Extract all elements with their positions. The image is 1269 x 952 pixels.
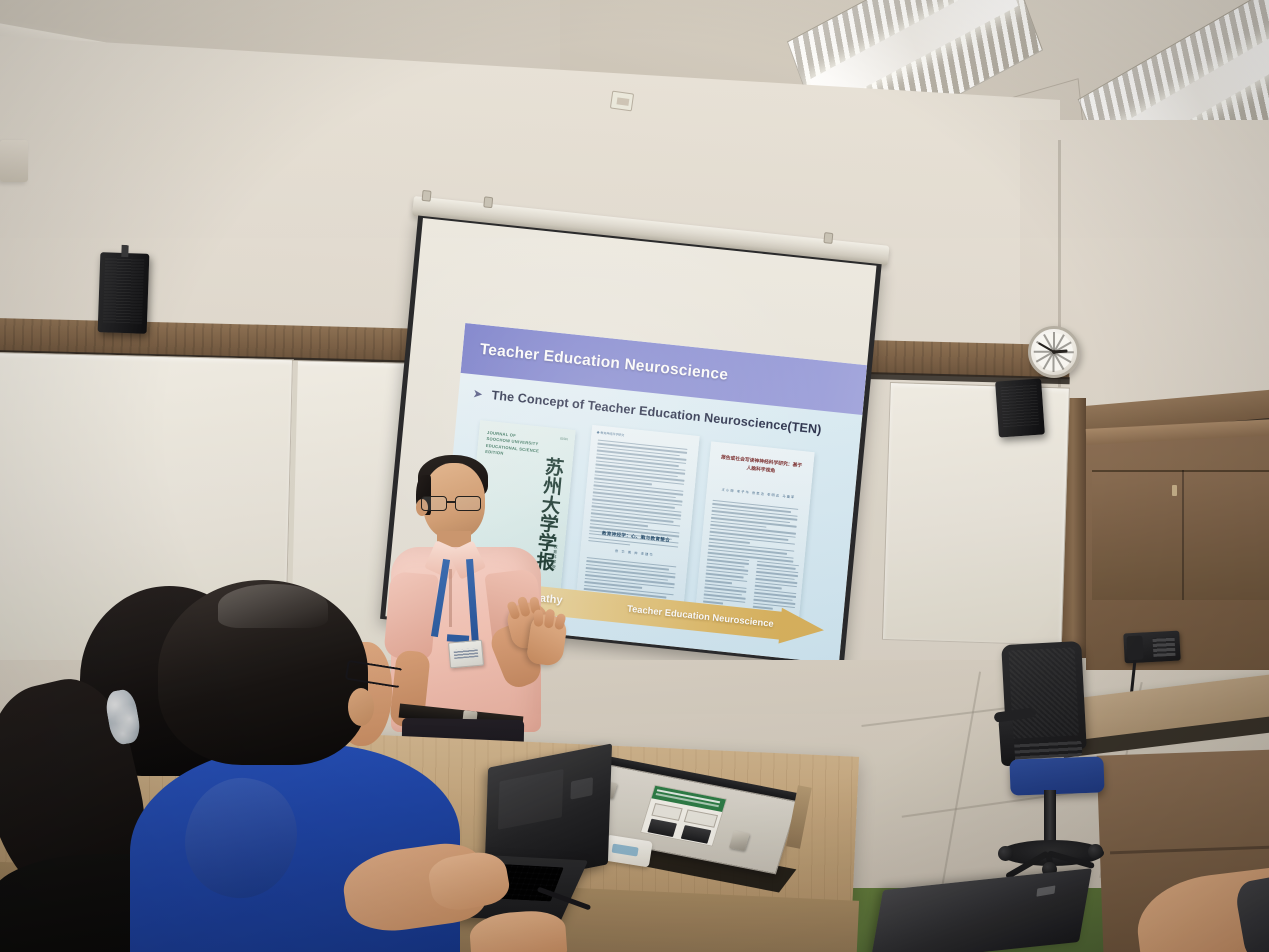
arrow-head-icon xyxy=(779,608,826,648)
panel-latch[interactable] xyxy=(729,831,750,851)
clock-center-pin xyxy=(1052,350,1056,354)
speaker-grille xyxy=(1000,383,1039,427)
finger xyxy=(544,609,556,629)
floor-tile-line xyxy=(941,671,981,888)
classroom-presentation-photo: Teacher Education Neuroscience ➤ The Con… xyxy=(0,0,1269,952)
bullet-arrow-icon: ➤ xyxy=(472,386,483,401)
audience-hair-highlight xyxy=(218,584,328,628)
journal-article-page: 报告或社会写读神神经科学研究：基于人脑科学视角 王小丽 李子华 张思洁 李明达 … xyxy=(695,441,815,623)
article-title: 报告或社会写读神神经科学研究：基于人脑科学视角 xyxy=(709,453,814,479)
podium-door-handle[interactable] xyxy=(1172,485,1177,496)
clock-face xyxy=(1035,333,1073,371)
screen-bracket xyxy=(483,196,493,208)
journal-article-page: ◆ 教育神经科学研究 教育神经学：心、脑与教育整合 张 华 xyxy=(575,425,700,617)
desk-telephone[interactable] xyxy=(1123,631,1180,664)
power-socket-icon[interactable] xyxy=(610,91,634,112)
chair-caster xyxy=(1088,844,1103,859)
journal-corner-mark: ISSN xyxy=(560,437,568,442)
finger xyxy=(534,610,543,627)
speaker-bracket xyxy=(121,245,128,257)
presenter-hand-right xyxy=(526,613,569,668)
podium-cabinet-doors[interactable] xyxy=(1092,470,1269,600)
eyeglass-lens xyxy=(421,496,447,511)
article-authors: 王小丽 李子华 张思洁 李明达 马建军 xyxy=(707,485,811,501)
panel-label-text-block xyxy=(651,803,682,821)
audience-blue-shirt xyxy=(130,580,530,952)
podium-door-split xyxy=(1182,470,1184,600)
eyeglass-lens xyxy=(455,496,481,511)
chair-caster xyxy=(998,846,1013,861)
clock-tick xyxy=(1034,351,1052,353)
telephone-handset[interactable] xyxy=(1126,635,1143,660)
article-head-mark: ◆ 教育神经科学研究 xyxy=(596,430,624,437)
slide-title: Teacher Education Neuroscience xyxy=(462,339,729,385)
panel-socket-icon[interactable] xyxy=(681,825,712,844)
screen-bracket xyxy=(422,190,432,202)
office-chair-seat[interactable] xyxy=(1009,756,1104,795)
panel-instruction-label xyxy=(640,785,727,847)
laptop-brand-logo xyxy=(1036,885,1055,896)
clock-tick xyxy=(1053,354,1055,372)
office-chair-backrest[interactable] xyxy=(1001,641,1087,753)
telephone-keypad[interactable] xyxy=(1153,637,1176,657)
laptop-lid-badge xyxy=(570,777,593,799)
chair-mesh-texture xyxy=(1009,647,1080,738)
wall-speaker-icon xyxy=(995,378,1045,437)
eyeglass-bridge xyxy=(447,501,455,503)
panel-socket-icon[interactable] xyxy=(647,819,677,837)
chair-base xyxy=(1000,840,1104,866)
wall-speaker-icon xyxy=(98,252,150,334)
speaker-grille xyxy=(103,256,144,323)
audience-hair xyxy=(158,580,368,765)
wall-clock xyxy=(1028,326,1080,378)
finger xyxy=(554,613,567,631)
audience-ear xyxy=(348,688,374,726)
eyeglasses-icon xyxy=(421,496,484,511)
screen-bracket xyxy=(823,232,833,244)
wall-junction-box xyxy=(0,140,28,182)
